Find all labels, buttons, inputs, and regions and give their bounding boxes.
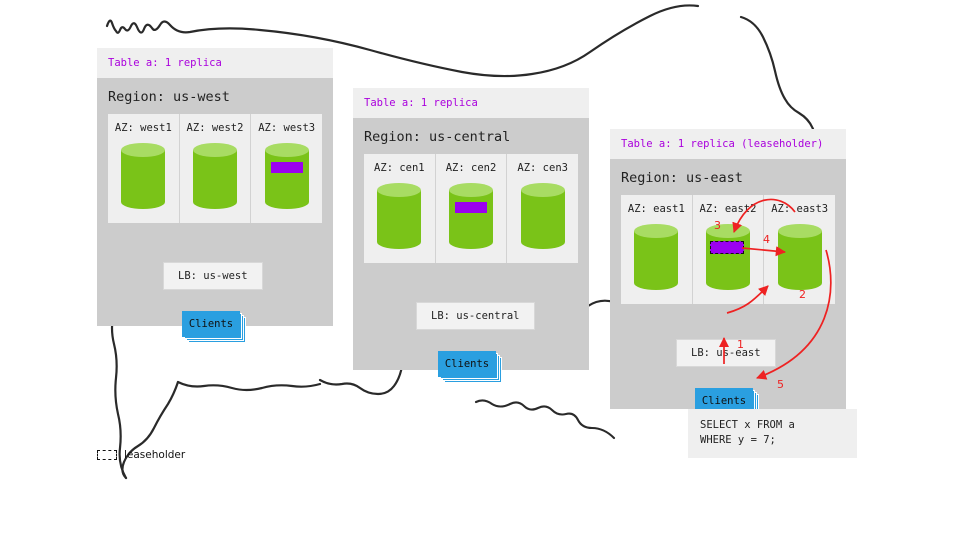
replica-marker-west3 <box>271 162 303 173</box>
az-cell-cen1[interactable]: AZ: cen1 <box>364 154 436 263</box>
az-cell-east2[interactable]: AZ: east2 <box>693 195 765 304</box>
table-replica-label-us-west: Table a: 1 replica <box>108 57 222 69</box>
load-balancer-us-east[interactable]: LB: us-east <box>676 339 776 367</box>
node-cylinder-cen3[interactable] <box>521 183 565 249</box>
diagram-canvas: Table a: 1 replica Region: us-west AZ: w… <box>0 0 960 540</box>
region-header-us-east: Table a: 1 replica (leaseholder) <box>610 129 846 159</box>
region-body-us-west: Region: us-west AZ: west1 AZ: west2 <box>97 78 333 326</box>
clients-label-us-west: Clients <box>182 311 240 337</box>
step-label-1: 1 <box>737 338 744 351</box>
step-label-5: 5 <box>777 378 784 391</box>
az-cell-cen3[interactable]: AZ: cen3 <box>507 154 578 263</box>
az-label-east2: AZ: east2 <box>700 203 757 215</box>
cylinder-top <box>634 224 678 238</box>
node-cylinder-west1[interactable] <box>121 143 165 209</box>
clients-label-us-central: Clients <box>438 351 496 377</box>
az-cell-west1[interactable]: AZ: west1 <box>108 114 180 223</box>
node-cylinder-west3[interactable] <box>265 143 309 209</box>
az-row-us-west: AZ: west1 AZ: west2 AZ <box>108 114 322 223</box>
cylinder-body <box>377 190 421 242</box>
az-label-east3: AZ: east3 <box>771 203 828 215</box>
region-panel-us-west: Table a: 1 replica Region: us-west AZ: w… <box>97 48 333 326</box>
legend: leaseholder <box>97 449 185 461</box>
az-label-west1: AZ: west1 <box>115 122 172 134</box>
cylinder-body <box>634 231 678 283</box>
step-label-3: 3 <box>714 219 721 232</box>
cylinder-body <box>449 190 493 242</box>
region-header-us-central: Table a: 1 replica <box>353 88 589 118</box>
region-title-us-central: Region: us-central <box>353 118 589 154</box>
az-label-cen3: AZ: cen3 <box>517 162 568 174</box>
cylinder-top <box>265 143 309 157</box>
cylinder-top <box>449 183 493 197</box>
cylinder-body <box>193 150 237 202</box>
node-cylinder-east3[interactable] <box>778 224 822 290</box>
node-cylinder-cen1[interactable] <box>377 183 421 249</box>
leaseholder-replica-marker-east2 <box>710 241 744 254</box>
legend-label-leaseholder: leaseholder <box>124 449 185 461</box>
node-cylinder-east2[interactable] <box>706 224 750 290</box>
table-replica-label-us-east: Table a: 1 replica (leaseholder) <box>621 138 823 150</box>
region-panel-us-central: Table a: 1 replica Region: us-central AZ… <box>353 88 589 370</box>
clients-stack-us-central[interactable]: Clients <box>438 351 502 379</box>
load-balancer-us-west[interactable]: LB: us-west <box>163 262 263 290</box>
cylinder-top <box>521 183 565 197</box>
cylinder-top <box>121 143 165 157</box>
cylinder-body <box>706 231 750 283</box>
node-cylinder-west2[interactable] <box>193 143 237 209</box>
az-label-cen1: AZ: cen1 <box>374 162 425 174</box>
region-title-us-east: Region: us-east <box>610 159 846 195</box>
cylinder-top <box>778 224 822 238</box>
clients-stack-us-west[interactable]: Clients <box>182 311 246 339</box>
load-balancer-us-central[interactable]: LB: us-central <box>416 302 535 330</box>
az-cell-west3[interactable]: AZ: west3 <box>251 114 322 223</box>
cylinder-top <box>377 183 421 197</box>
az-label-cen2: AZ: cen2 <box>446 162 497 174</box>
az-label-west3: AZ: west3 <box>258 122 315 134</box>
cylinder-top <box>706 224 750 238</box>
az-cell-west2[interactable]: AZ: west2 <box>180 114 252 223</box>
step-label-4: 4 <box>763 233 770 246</box>
step-label-2: 2 <box>799 288 806 301</box>
region-title-us-west: Region: us-west <box>97 78 333 114</box>
replica-marker-cen2 <box>455 202 487 213</box>
az-label-west2: AZ: west2 <box>187 122 244 134</box>
cylinder-body <box>521 190 565 242</box>
az-row-us-central: AZ: cen1 AZ: cen2 <box>364 154 578 263</box>
az-cell-cen2[interactable]: AZ: cen2 <box>436 154 508 263</box>
az-cell-east1[interactable]: AZ: east1 <box>621 195 693 304</box>
region-header-us-west: Table a: 1 replica <box>97 48 333 78</box>
cylinder-body <box>778 231 822 283</box>
leaseholder-swatch-icon <box>97 450 117 460</box>
region-body-us-central: Region: us-central AZ: cen1 AZ: cen2 <box>353 118 589 370</box>
cylinder-body <box>121 150 165 202</box>
az-label-east1: AZ: east1 <box>628 203 685 215</box>
table-replica-label-us-central: Table a: 1 replica <box>364 97 478 109</box>
cylinder-top <box>193 143 237 157</box>
cylinder-body <box>265 150 309 202</box>
sql-query-box: SELECT x FROM a WHERE y = 7; <box>688 409 857 458</box>
node-cylinder-east1[interactable] <box>634 224 678 290</box>
region-panel-us-east: Table a: 1 replica (leaseholder) Region:… <box>610 129 846 409</box>
region-body-us-east: Region: us-east AZ: east1 AZ: east2 <box>610 159 846 409</box>
node-cylinder-cen2[interactable] <box>449 183 493 249</box>
